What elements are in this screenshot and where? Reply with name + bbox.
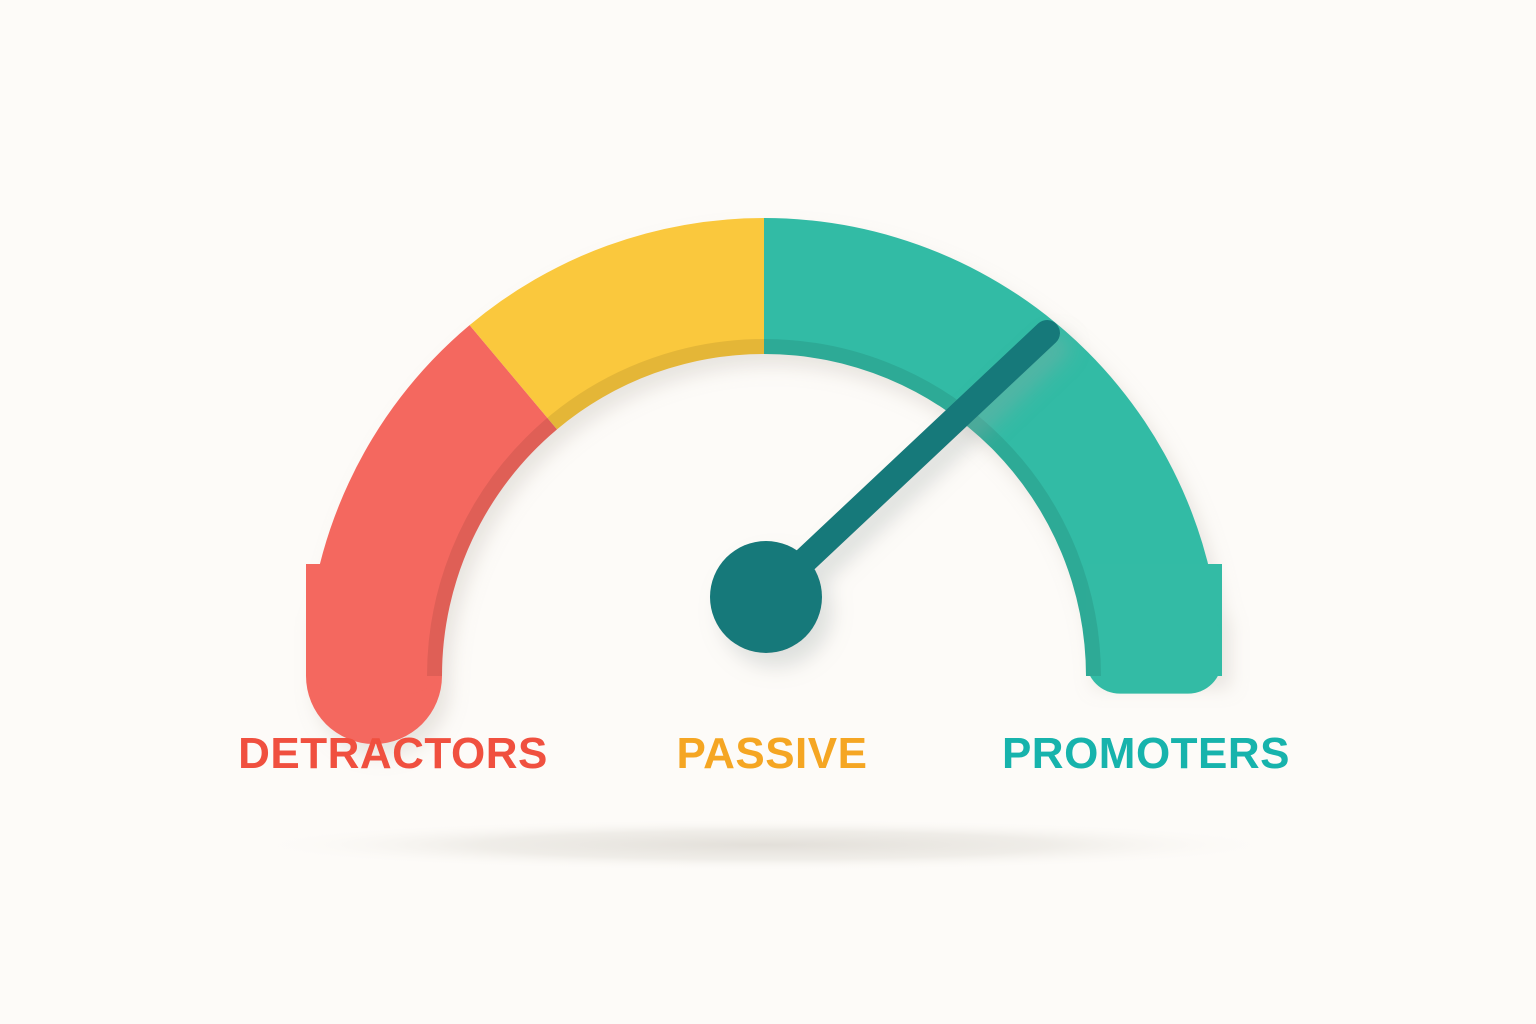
gauge-chart: DETRACTORS PASSIVE PROMOTERS (0, 0, 1536, 1024)
needle-hub[interactable] (710, 541, 822, 653)
segment-label-promoters: PROMOTERS (1002, 729, 1290, 778)
segment-label-detractors: DETRACTORS (238, 729, 548, 778)
ground-shadow (245, 819, 1285, 871)
segment-label-passive: PASSIVE (677, 729, 868, 778)
gauge-chart-stage: DETRACTORS PASSIVE PROMOTERS (0, 0, 1536, 1024)
